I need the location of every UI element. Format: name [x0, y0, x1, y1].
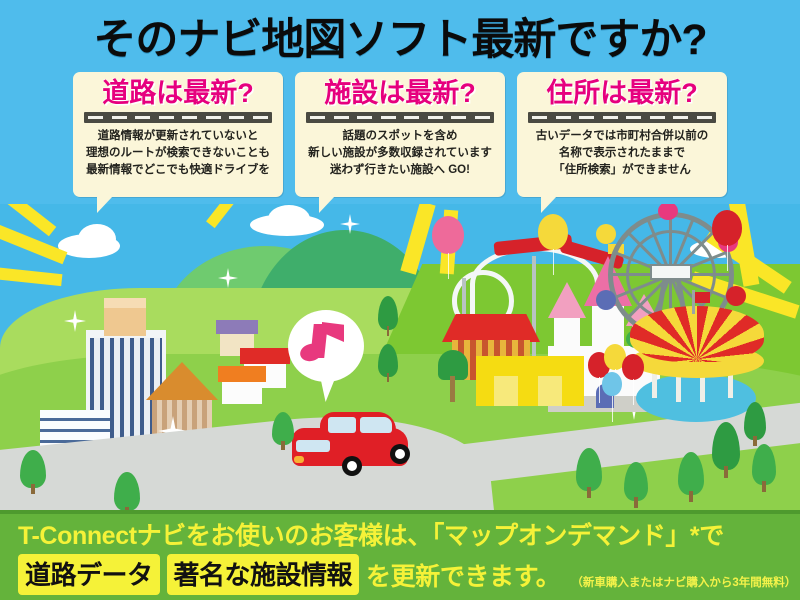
info-line: 名称で表示されたままで — [536, 145, 709, 162]
info-line: 話題のスポットを含め — [308, 128, 492, 145]
banner-headline: T-Connectナビをお使いのお客様は、「マップオンデマンド」*で — [18, 521, 786, 551]
road-divider-icon — [84, 112, 272, 123]
music-bubble — [288, 310, 364, 382]
advertisement-root: そのナビ地図ソフト最新ですか? 道路は最新? 道路情報が更新されていないと 理想… — [0, 0, 800, 600]
info-box-group: 道路は最新? 道路情報が更新されていないと 理想のルートが検索できないことも 最… — [0, 72, 800, 204]
car-wheel-front-hub — [347, 461, 357, 471]
bottom-banner: T-Connectナビをお使いのお客様は、「マップオンデマンド」*で 道路データ… — [0, 510, 800, 600]
banner-subline: 道路データ 著名な施設情報 を更新できます。 （新車購入またはナビ購入から3年間… — [18, 554, 786, 595]
house-red-roof-top — [240, 348, 290, 364]
castle-tower-left — [554, 312, 580, 358]
tree-icon — [678, 452, 704, 504]
yellow-hall — [476, 356, 584, 406]
badge-facility-info: 著名な施設情報 — [167, 554, 360, 595]
info-box-body: 古いデータでは市町村合併以前の 名称で表示されたままで 「住所検索」ができません — [536, 128, 709, 178]
rooftop-box-top — [104, 298, 146, 308]
pavilion-roof — [442, 314, 540, 342]
car-wheel-rear-hub — [395, 449, 405, 459]
tree-icon — [712, 422, 740, 480]
carousel-flag-icon — [694, 292, 710, 303]
car-headlight — [294, 456, 304, 463]
info-box-facilities: 施設は最新? 話題のスポットを含め 新しい施設が多数収録されています 迷わず行き… — [295, 72, 505, 197]
info-line: 道路情報が更新されていないと — [86, 128, 270, 145]
info-line: 迷わず行きたい施設へ GO! — [308, 162, 492, 179]
rooftop-box — [104, 304, 146, 336]
car-window-front — [328, 417, 356, 433]
tree-icon — [20, 450, 46, 496]
gondola — [596, 224, 616, 244]
tree-icon — [378, 344, 398, 384]
tree-icon — [576, 448, 602, 500]
info-box-roads: 道路は最新? 道路情報が更新されていないと 理想のルートが検索できないことも 最… — [73, 72, 283, 197]
balloon-icon — [712, 210, 742, 246]
coaster-support — [532, 256, 536, 372]
gondola — [596, 290, 616, 310]
balloon-icon — [538, 214, 568, 250]
cloud-icon — [78, 224, 116, 254]
info-box-title: 施設は最新? — [324, 79, 476, 108]
carousel-canopy — [630, 306, 764, 362]
carousel-pole-top — [692, 290, 695, 314]
info-line: 最新情報でどこでも快適ドライブを — [86, 162, 270, 179]
ferris-wheel-hub — [650, 264, 692, 280]
tree-icon — [752, 444, 776, 494]
car-window-rear — [296, 440, 330, 452]
info-box-title: 住所は最新? — [546, 79, 698, 108]
info-line: 古いデータでは市町村合併以前の — [536, 128, 709, 145]
page-title: そのナビ地図ソフト最新ですか? — [93, 5, 706, 67]
headline-bar: そのナビ地図ソフト最新ですか? — [0, 0, 800, 72]
house-orange-roof — [222, 380, 262, 404]
info-line: 新しい施設が多数収録されています — [308, 145, 492, 162]
illustration-scene — [0, 204, 800, 534]
tree-icon — [624, 462, 648, 510]
info-box-body: 話題のスポットを含め 新しい施設が多数収録されています 迷わず行きたい施設へ G… — [308, 128, 492, 178]
badge-road-data: 道路データ — [18, 554, 160, 595]
info-line: 「住所検索」ができません — [536, 162, 709, 179]
house-purple-roof-top — [216, 320, 258, 334]
tree-icon — [272, 412, 294, 452]
info-box-addresses: 住所は最新? 古いデータでは市町村合併以前の 名称で表示されたままで 「住所検索… — [517, 72, 727, 197]
road-divider-icon — [306, 112, 494, 123]
gondola — [726, 286, 746, 306]
yellow-hall-arch — [538, 376, 562, 406]
banner-fine-print: （新車購入またはナビ購入から3年間無料） — [571, 574, 796, 595]
house-orange-roof-top — [218, 366, 266, 382]
balloon-icon — [432, 216, 464, 254]
info-box-body: 道路情報が更新されていないと 理想のルートが検索できないことも 最新情報でどこで… — [86, 128, 270, 178]
banner-tail-text: を更新できます。 — [366, 557, 560, 593]
info-line: 理想のルートが検索できないことも — [86, 145, 270, 162]
car-window-side — [360, 417, 392, 433]
palm-trunk — [450, 376, 455, 402]
road-divider-icon — [528, 112, 716, 123]
yellow-hall-arch — [494, 376, 518, 406]
tree-icon — [378, 296, 398, 338]
balloon-icon — [622, 354, 644, 380]
info-box-title: 道路は最新? — [102, 79, 254, 108]
balloon-icon — [602, 372, 622, 396]
tree-icon — [744, 402, 766, 448]
cloud-icon — [268, 205, 310, 233]
